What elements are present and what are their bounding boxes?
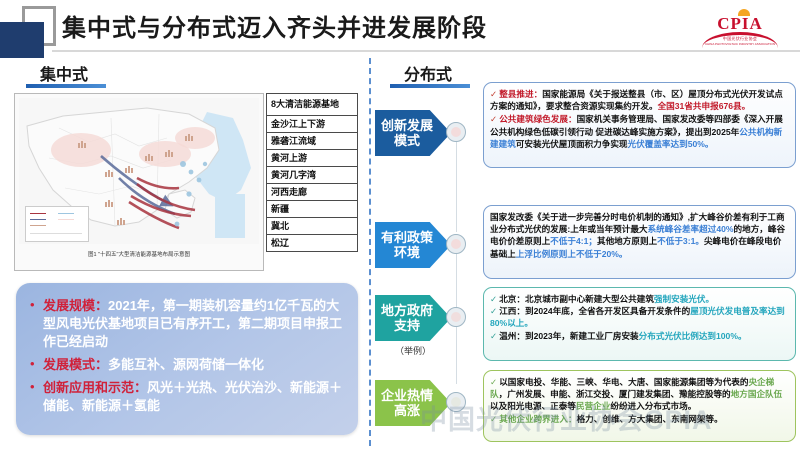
text-run: 不低于3:1。 [657, 236, 704, 246]
list-item: ✓整县推进：国家能源局《关于报送整县（市、区）屋顶分布式光伏开发试点方案的通知》… [490, 88, 789, 112]
list-item: • 创新应用和示范：风光＋光热、光伏治沙、新能源＋储能、新能源＋氢能 [30, 379, 348, 415]
list-item: ✓江西：到2024年底，全省各开发区具备开发条件的屋顶光伏发电普及率达到80%以… [490, 305, 789, 329]
content-box-body: ✓北京：北京城市副中心新建大型公共建筑强制安装光伏。 ✓江西：到2024年底，全… [484, 288, 795, 346]
category-innovation-model[interactable]: 创新发展模式 [375, 110, 451, 156]
text-run: 北京城市副中心新建大型公共建筑 [525, 294, 654, 304]
category-enterprise-enthusiasm[interactable]: 企业热情高涨 [375, 380, 451, 426]
text-run: 不低于4:1； [550, 236, 597, 246]
text-run: 系统峰谷差率超过40% [648, 224, 734, 234]
list-item: ✓北京：北京城市副中心新建大型公共建筑强制安装光伏。 [490, 293, 789, 305]
list-item: 金沙江上下游 [266, 115, 358, 132]
bullet-label: 创新应用和示范： [43, 380, 147, 395]
china-energy-base-map: 图1 "十四五"大型清洁能源基地布局示意图 [14, 93, 264, 271]
text-run: 格力、创维、方大集团、东南网架等。 [577, 414, 723, 424]
content-box-body: 国家发改委《关于进一步完善分时电价机制的通知》,扩大峰谷价差有利于工商业分布式光… [484, 206, 795, 264]
connector-node [446, 234, 466, 254]
text-run: 温州： [499, 331, 525, 341]
list-item: ✓其他企业跨界进入：格力、创维、方大集团、东南网架等。 [490, 413, 789, 425]
list-item: 黄河几字湾 [266, 166, 358, 183]
connector-node [446, 307, 466, 327]
page-header: 集中式与分布式迈入齐头并进发展阶段 CPIA 中国光伏行业协会 CHINA PH… [0, 0, 800, 58]
text-run: 上浮比例原则上不低于20%。 [516, 249, 628, 259]
content-box-innovation: ✓整县推进：国家能源局《关于报送整县（市、区）屋顶分布式光伏开发试点方案的通知》… [483, 82, 796, 168]
connector-node [446, 392, 466, 412]
list-item: 新疆 [266, 200, 358, 217]
list-item: ✓温州：到2023年，新建工业厂房安装分布式光伏比例达到100%。 [490, 330, 789, 342]
content-box-body: ✓以国家电投、华能、三峡、华电、大唐、国家能源集团等为代表的央企梯队，广州发展、… [484, 371, 795, 429]
cpia-logo-subtitle-en: CHINA PHOTOVOLTAIC INDUSTRY ASSOCIATION [700, 42, 780, 46]
check-icon: ✓ [490, 414, 497, 424]
bullet-dot-icon: • [30, 297, 43, 351]
text-run: 纷纷进入分布式市场。 [610, 401, 696, 411]
text-run: 到2023年，新建工业厂房安装 [525, 331, 639, 341]
text-run: 民营企业 [576, 401, 610, 411]
bullet-dot-icon: • [30, 379, 43, 415]
left-heading-underline [26, 84, 106, 88]
list-item: 黄河上游 [266, 149, 358, 166]
connector-spine [456, 248, 457, 308]
category-local-government-support[interactable]: 地方政府支持 [375, 295, 451, 341]
bullet-body: 创新应用和示范：风光＋光热、光伏治沙、新能源＋储能、新能源＋氢能 [43, 379, 348, 415]
left-section-heading: 集中式 [40, 61, 88, 85]
page-title: 集中式与分布式迈入齐头并进发展阶段 [62, 8, 487, 43]
category-label: 有利政策环境 [375, 230, 439, 260]
map-caption: 图1 "十四五"大型清洁能源基地布局示意图 [15, 250, 263, 258]
content-box-local-government: ✓北京：北京城市副中心新建大型公共建筑强制安装光伏。 ✓江西：到2024年底，全… [483, 287, 796, 361]
category-label: 企业热情高涨 [375, 388, 439, 418]
bullet-label: 发展模式： [43, 357, 108, 372]
cpia-logo: CPIA 中国光伏行业协会 CHINA PHOTOVOLTAIC INDUSTR… [700, 8, 780, 48]
text-run: 其他地方原则上 [597, 236, 657, 246]
bullet-label: 发展规模： [43, 298, 108, 313]
logo-filled-square [0, 22, 44, 58]
check-icon: ✓ [490, 294, 497, 304]
map-canvas [19, 98, 259, 244]
text-run: 光伏覆盖率达到50%。 [628, 139, 714, 149]
node-inner-dot [451, 239, 461, 249]
list-item: • 发展模式：多能互补、源网荷储一体化 [30, 356, 348, 374]
check-icon: ✓ [490, 306, 497, 316]
header-divider-rule [52, 50, 800, 52]
text-run: 可安装光伏屋顶面积力争实现 [516, 139, 628, 149]
connector-spine [456, 132, 457, 232]
bullet-dot-icon: • [30, 356, 43, 374]
text-run: ，广州发展、申能、浙江交投、厦门建发集团、豫能控股等的 [499, 389, 731, 399]
text-run: 以及阳光电源、正泰等 [490, 401, 576, 411]
list-item: ✓以国家电投、华能、三峡、华电、大唐、国家能源集团等为代表的央企梯队，广州发展、… [490, 376, 789, 413]
list-item: 河西走廊 [266, 183, 358, 200]
node-inner-dot [451, 397, 461, 407]
text-run: 江西： [499, 306, 525, 316]
text-run: 整县推进： [499, 89, 542, 99]
category-label: 地方政府支持 [375, 303, 439, 333]
content-box-body: ✓整县推进：国家能源局《关于报送整县（市、区）屋顶分布式光伏开发试点方案的通知》… [484, 83, 795, 154]
content-box-enterprise: ✓以国家电投、华能、三峡、华电、大唐、国家能源集团等为代表的央企梯队，广州发展、… [483, 370, 796, 442]
category-label: 创新发展模式 [375, 118, 439, 148]
text-run: 分布式光伏比例达到100%。 [639, 331, 747, 341]
node-inner-dot [451, 312, 461, 322]
right-heading-underline [390, 84, 470, 88]
bullet-body: 发展模式：多能互补、源网荷储一体化 [43, 356, 264, 374]
list-item: 8大清洁能源基地 [266, 93, 358, 115]
text-run: 到2024年底，全省各开发区具备开发条件的 [525, 306, 690, 316]
list-item: ✓公共建筑绿色发展：国家机关事务管理局、国家发改委等四部委《深入开展公共机构绿色… [490, 113, 789, 150]
list-item: 松辽 [266, 234, 358, 252]
check-icon: ✓ [490, 89, 497, 99]
content-box-policy: 国家发改委《关于进一步完善分时电价机制的通知》,扩大峰谷价差有利于工商业分布式光… [483, 205, 796, 279]
text-run: 全国31省共申报676县。 [658, 101, 751, 111]
text-run: 地方国企队伍 [731, 389, 783, 399]
bullet-text: 多能互补、源网荷储一体化 [108, 357, 264, 372]
list-item: 国家发改委《关于进一步完善分时电价机制的通知》,扩大峰谷价差有利于工商业分布式光… [490, 211, 789, 260]
list-item: • 发展规模：2021年，第一期装机容量约1亿千瓦的大型风电光伏基地项目已有序开… [30, 297, 348, 351]
text-run: 公共建筑绿色发展： [499, 114, 576, 124]
category-policy-environment[interactable]: 有利政策环境 [375, 222, 451, 268]
connector-spine [456, 326, 457, 384]
text-run: 以国家电投、华能、三峡、华电、大唐、国家能源集团等为代表的 [499, 377, 748, 387]
cpia-logo-text: CPIA [700, 14, 780, 34]
map-legend [25, 206, 89, 242]
text-run: 北京： [499, 294, 525, 304]
panel-divider [369, 58, 371, 446]
list-item: 雅砻江流域 [266, 132, 358, 149]
connector-node [446, 122, 466, 142]
clean-energy-base-list: 8大清洁能源基地 金沙江上下游 雅砻江流域 黄河上游 黄河几字湾 河西走廊 新疆… [266, 93, 358, 252]
check-icon: ✓ [490, 114, 497, 124]
category-sublabel: （举例） [375, 344, 451, 357]
centralized-summary-card: • 发展规模：2021年，第一期装机容量约1亿千瓦的大型风电光伏基地项目已有序开… [16, 283, 358, 435]
list-item: 冀北 [266, 217, 358, 234]
right-section-heading: 分布式 [404, 61, 452, 85]
text-run: 其他企业跨界进入： [499, 414, 576, 424]
bullet-body: 发展规模：2021年，第一期装机容量约1亿千瓦的大型风电光伏基地项目已有序开工，… [43, 297, 348, 351]
check-icon: ✓ [490, 331, 497, 341]
centralized-bullet-list: • 发展规模：2021年，第一期装机容量约1亿千瓦的大型风电光伏基地项目已有序开… [30, 297, 348, 420]
text-run: 强制安装光伏。 [654, 294, 714, 304]
check-icon: ✓ [490, 377, 497, 387]
node-inner-dot [451, 127, 461, 137]
